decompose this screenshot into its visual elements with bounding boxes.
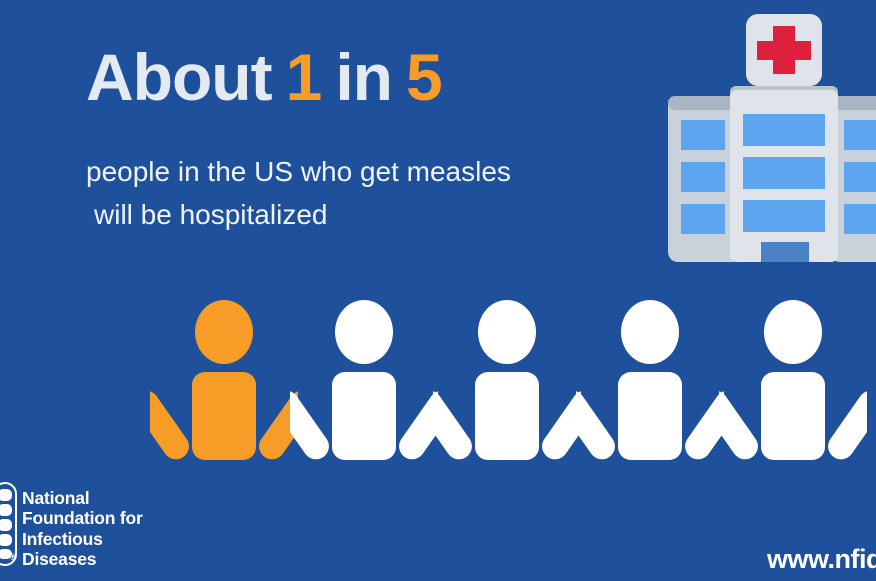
website-url[interactable]: www.nfid xyxy=(767,544,876,575)
person-icon-1-hospitalized xyxy=(150,300,298,460)
people-pictogram-row xyxy=(150,300,876,460)
subtitle: people in the US who get measles will be… xyxy=(86,150,511,237)
registered-trademark-mark: ® xyxy=(10,552,17,562)
logo-line-1: National xyxy=(22,488,143,508)
nfid-logo-text: National Foundation for Infectious Disea… xyxy=(22,488,143,570)
headline-word-in: in xyxy=(335,40,392,114)
person-icon-5 xyxy=(719,300,867,460)
measles-hospitalization-infographic: About1in5 people in the US who get measl… xyxy=(0,0,876,581)
headline-number-five: 5 xyxy=(406,40,442,114)
logo-line-3: Infectious xyxy=(22,529,143,549)
person-icon-4 xyxy=(576,300,724,460)
subtitle-line-1: people in the US who get measles xyxy=(86,156,511,187)
headline-word-about: About xyxy=(86,40,272,114)
subtitle-line-2: will be hospitalized xyxy=(86,193,511,236)
hospital-building-icon xyxy=(668,14,876,262)
logo-line-4: Diseases xyxy=(22,549,143,569)
person-icon-3 xyxy=(433,300,581,460)
headline-number-one: 1 xyxy=(286,40,322,114)
page-title: About1in5 xyxy=(86,44,442,110)
logo-line-2: Foundation for xyxy=(22,508,143,528)
person-icon-2 xyxy=(290,300,438,460)
